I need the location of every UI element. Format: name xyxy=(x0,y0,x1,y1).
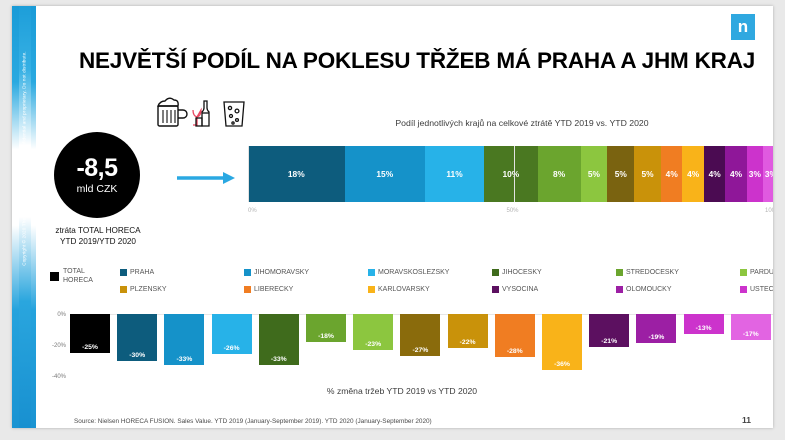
legend-swatch xyxy=(244,269,251,276)
legend-label: STREDOCESKY xyxy=(626,269,679,276)
legend-swatch xyxy=(740,286,747,293)
stacked-bar-track: 18%15%11%10%8%5%5%5%4%4%4%4%3%3% xyxy=(248,146,773,202)
legend-label: PLZENSKY xyxy=(130,286,167,293)
kpi-unit: mld CZK xyxy=(77,183,118,195)
stacked-chart-title: Podíl jednotlivých krajů na celkové ztrá… xyxy=(312,118,732,128)
stack-segment: 10% xyxy=(484,146,538,202)
legend-swatch xyxy=(492,286,499,293)
legend-item: JIHOMORAVSKY xyxy=(244,269,368,276)
y-axis-label: -40% xyxy=(52,374,66,380)
page-title: NEJVĚTŠÍ PODÍL NA POKLESU TŘŽEB MÁ PRAHA… xyxy=(72,48,762,74)
change-bar: -33% xyxy=(164,314,204,365)
stack-segment: 5% xyxy=(581,146,608,202)
legend-item: STREDOCESKY xyxy=(616,269,740,276)
y-axis-label: -20% xyxy=(52,343,66,349)
legend-label: OLOMOUCKY xyxy=(626,286,672,293)
beer-mug-icon xyxy=(158,98,187,126)
wine-bottles-icon xyxy=(193,101,209,126)
stack-segment: 4% xyxy=(704,146,725,202)
change-bar: -36% xyxy=(542,314,582,370)
change-bar: -19% xyxy=(636,314,676,343)
left-blue-ribbon: Copyright © 2020 The Nielsen Company (US… xyxy=(12,6,36,428)
legend-row-2: PLZENSKYLIBERECKYKARLOVARSKYVYSOCINAOLOM… xyxy=(120,286,760,293)
change-bar: -26% xyxy=(212,314,252,354)
change-bar: -17% xyxy=(731,314,771,340)
legend-label-total: TOTALHORECA xyxy=(63,268,93,286)
change-bar: -22% xyxy=(448,314,488,348)
page-number: 11 xyxy=(742,415,751,425)
arrow-right-icon xyxy=(177,171,239,185)
legend-label: PRAHA xyxy=(130,269,154,276)
change-bar: -23% xyxy=(353,314,393,350)
legend-item: PLZENSKY xyxy=(120,286,244,293)
axis-tick-line xyxy=(248,146,249,202)
axis-tick-label: 50% xyxy=(507,208,519,214)
change-bar: -27% xyxy=(400,314,440,356)
nielsen-logo: n xyxy=(731,14,755,40)
legend-swatch xyxy=(492,269,499,276)
change-chart-title: % změna tržeb YTD 2019 vs YTD 2020 xyxy=(192,386,612,396)
legend-label: PARDUBICKY xyxy=(750,269,773,276)
legend-label: MORAVSKOSLEZSKY xyxy=(378,269,449,276)
drink-icons-group xyxy=(152,94,252,130)
legend-swatch xyxy=(616,269,623,276)
legend-label: KARLOVARSKY xyxy=(378,286,430,293)
presentation-slide: Copyright © 2020 The Nielsen Company (US… xyxy=(12,6,773,428)
legend-label: JIHOMORAVSKY xyxy=(254,269,309,276)
change-bar: -18% xyxy=(306,314,346,342)
stack-segment: 4% xyxy=(661,146,682,202)
change-chart-y-axis: 0%-20%-40% xyxy=(40,306,66,384)
axis-tick-label: 100% xyxy=(765,208,773,214)
legend-swatch xyxy=(368,269,375,276)
stacked-chart-x-axis: 0%50%100% xyxy=(248,202,773,220)
change-bar: -25% xyxy=(70,314,110,353)
legend-swatch xyxy=(740,269,747,276)
change-bar: -30% xyxy=(117,314,157,361)
axis-tick-line xyxy=(514,146,515,202)
legend-item: VYSOCINA xyxy=(492,286,616,293)
change-bar: -33% xyxy=(259,314,299,365)
stack-segment: 3% xyxy=(763,146,773,202)
stack-segment: 8% xyxy=(538,146,581,202)
stack-segment: 5% xyxy=(634,146,661,202)
legend-item: KARLOVARSKY xyxy=(368,286,492,293)
kpi-caption: ztráta TOTAL HORECA YTD 2019/YTD 2020 xyxy=(37,225,159,247)
legend-row-1: PRAHAJIHOMORAVSKYMORAVSKOSLEZSKYJIHOCESK… xyxy=(120,269,760,276)
axis-tick-label: 0% xyxy=(248,208,257,214)
stack-segment: 18% xyxy=(248,146,345,202)
kpi-caption-line1: ztráta TOTAL HORECA xyxy=(37,225,159,236)
legend-label: LIBERECKY xyxy=(254,286,293,293)
legend-swatch xyxy=(244,286,251,293)
soda-glass-icon xyxy=(224,102,244,126)
change-chart-plot: -25%-30%-33%-26%-33%-18%-23%-27%-22%-28%… xyxy=(70,306,773,384)
change-bar: -13% xyxy=(684,314,724,334)
stack-segment: 5% xyxy=(607,146,634,202)
legend-swatch xyxy=(368,286,375,293)
kpi-value: -8,5 xyxy=(76,156,117,181)
stack-segment: 11% xyxy=(425,146,484,202)
kpi-circle: -8,5 mld CZK xyxy=(54,132,140,218)
legend-item: JIHOCESKY xyxy=(492,269,616,276)
kpi-caption-line2: YTD 2019/YTD 2020 xyxy=(37,236,159,247)
change-bar-chart: 0%-20%-40% -25%-30%-33%-26%-33%-18%-23%-… xyxy=(40,306,773,384)
copyright-text: Copyright © 2020 The Nielsen Company (US… xyxy=(22,29,27,289)
legend-swatch xyxy=(616,286,623,293)
legend-label: VYSOCINA xyxy=(502,286,538,293)
stacked-bar-chart: 18%15%11%10%8%5%5%5%4%4%4%4%3%3% xyxy=(248,146,773,202)
stack-segment: 15% xyxy=(345,146,425,202)
change-bar: -21% xyxy=(589,314,629,347)
legend-item: OLOMOUCKY xyxy=(616,286,740,293)
legend-label: USTECKY xyxy=(750,286,773,293)
slide-stage: Copyright © 2020 The Nielsen Company (US… xyxy=(0,0,785,440)
legend-item: MORAVSKOSLEZSKY xyxy=(368,269,492,276)
y-axis-label: 0% xyxy=(57,312,66,318)
change-bar: -28% xyxy=(495,314,535,357)
legend-item: LIBERECKY xyxy=(244,286,368,293)
legend-swatch xyxy=(120,269,127,276)
legend-item: PARDUBICKY xyxy=(740,269,773,276)
stack-segment: 3% xyxy=(747,146,763,202)
source-note: Source: Nielsen HORECA FUSION. Sales Val… xyxy=(74,418,432,425)
legend-item: PRAHA xyxy=(120,269,244,276)
legend-item: USTECKY xyxy=(740,286,773,293)
legend-swatch xyxy=(120,286,127,293)
stack-segment: 4% xyxy=(682,146,703,202)
legend-swatch-total xyxy=(50,272,59,281)
legend-label: JIHOCESKY xyxy=(502,269,542,276)
legend: TOTALHORECA PRAHAJIHOMORAVSKYMORAVSKOSLE… xyxy=(50,268,760,302)
legend-item-total-horeca: TOTALHORECA xyxy=(50,268,93,286)
stack-segment: 4% xyxy=(725,146,746,202)
